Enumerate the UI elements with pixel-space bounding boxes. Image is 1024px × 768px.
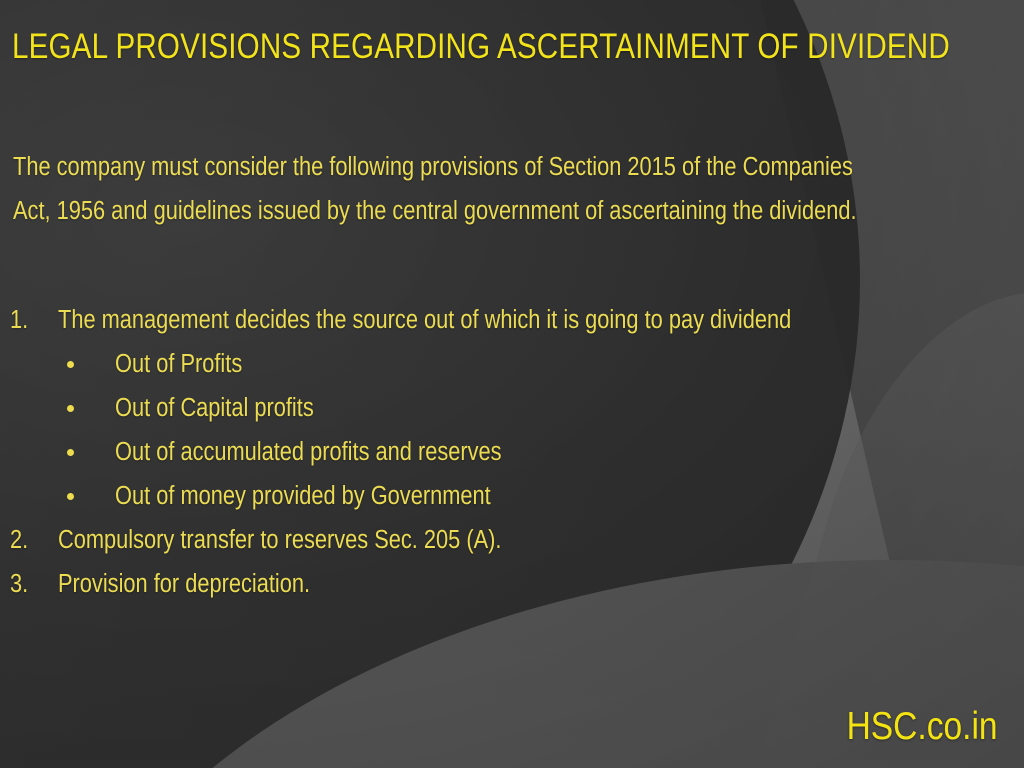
slide-content: LEGAL PROVISIONS REGARDING ASCERTAINMENT… xyxy=(0,0,1024,768)
sub-bullet-label: Out of accumulated profits and reserves xyxy=(115,430,502,474)
list-item: 1. The management decides the source out… xyxy=(0,298,1024,342)
intro-paragraph: The company must consider the following … xyxy=(13,145,872,233)
presentation-slide: LEGAL PROVISIONS REGARDING ASCERTAINMENT… xyxy=(0,0,1024,768)
list-item-marker: 1. xyxy=(10,298,44,342)
list-item: 3. Provision for depreciation. xyxy=(0,562,1024,606)
list-item-label: Compulsory transfer to reserves Sec. 205… xyxy=(58,518,501,562)
slide-title: LEGAL PROVISIONS REGARDING ASCERTAINMENT… xyxy=(12,26,857,68)
list-item-label: Provision for depreciation. xyxy=(58,562,310,606)
sub-bullet-item: Out of money provided by Government xyxy=(0,474,1024,518)
sub-bullet-item: Out of Profits xyxy=(0,342,1024,386)
provisions-list: 1. The management decides the source out… xyxy=(0,298,1024,606)
bullet-dot-icon xyxy=(67,493,74,500)
bullet-dot-icon xyxy=(67,361,74,368)
bullet-dot-icon xyxy=(67,405,74,412)
list-item-marker: 2. xyxy=(10,518,44,562)
bullet-dot-icon xyxy=(67,449,74,456)
list-item-label: The management decides the source out of… xyxy=(58,298,791,342)
sub-bullet-label: Out of Profits xyxy=(115,342,242,386)
footer-logo: HSC.co.in xyxy=(847,704,998,750)
sub-bullet-label: Out of money provided by Government xyxy=(115,474,491,518)
list-item: 2. Compulsory transfer to reserves Sec. … xyxy=(0,518,1024,562)
sub-bullet-item: Out of accumulated profits and reserves xyxy=(0,430,1024,474)
sub-bullet-item: Out of Capital profits xyxy=(0,386,1024,430)
sub-bullet-label: Out of Capital profits xyxy=(115,386,314,430)
list-item-marker: 3. xyxy=(10,562,44,606)
